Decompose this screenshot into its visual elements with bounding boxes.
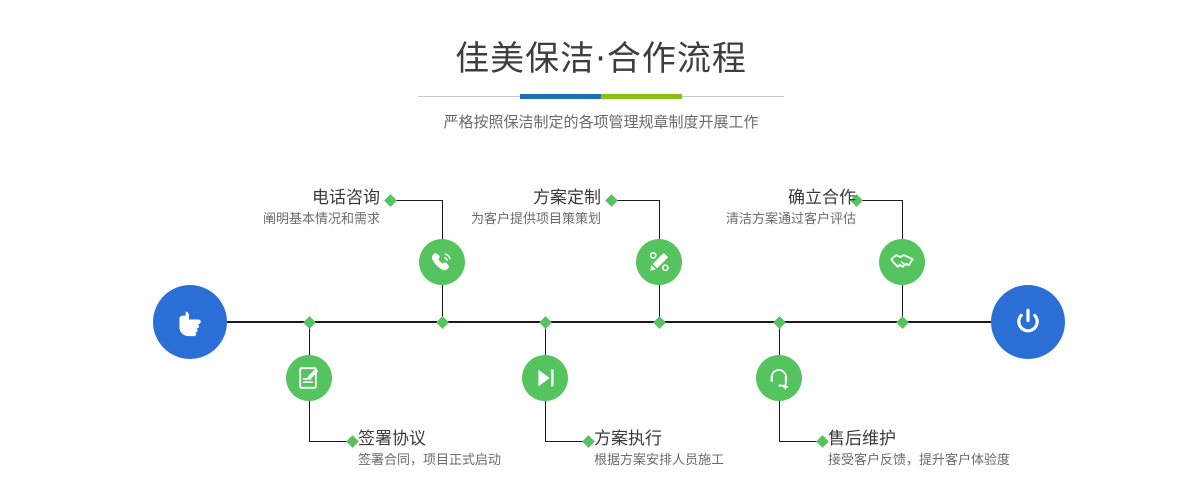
step-title-4: 方案执行 (594, 427, 724, 451)
step-riser-6 (779, 401, 780, 441)
step-icon-contract[interactable] (286, 355, 332, 401)
step-marker-6 (816, 435, 829, 448)
step-marker-2 (346, 435, 359, 448)
timeline-end-badge (991, 285, 1065, 359)
support-agent-icon (765, 364, 793, 392)
step-riser-4 (545, 401, 546, 441)
step-riser-2 (309, 401, 310, 441)
axis-marker-1 (436, 316, 449, 329)
step-title-2: 签署协议 (358, 427, 501, 451)
step-title-3: 方案定制 (471, 186, 601, 210)
step-icon-phone[interactable] (419, 239, 465, 285)
step-title-6: 售后维护 (828, 427, 1010, 451)
step-title-1: 电话咨询 (263, 186, 380, 210)
step-icon-support[interactable] (756, 355, 802, 401)
document-edit-icon (295, 364, 323, 392)
step-desc-4: 根据方案安排人员施工 (594, 451, 724, 471)
step-desc-1: 阐明基本情况和需求 (263, 210, 380, 230)
process-timeline: 电话咨询 阐明基本情况和需求 签署协议 签署合同，项目正式启动 (0, 0, 1202, 502)
step-riser-5 (902, 200, 903, 239)
step-icon-handshake[interactable] (879, 239, 925, 285)
step-riser-3 (659, 200, 660, 239)
step-icon-execute[interactable] (522, 355, 568, 401)
flow-diagram-page: 佳美保洁·合作流程 严格按照保洁制定的各项管理规章制度开展工作 (0, 0, 1202, 502)
step-connector-1 (390, 200, 442, 201)
phone-call-icon (428, 248, 456, 276)
pointing-hand-icon (170, 302, 210, 342)
axis-marker-3 (653, 316, 666, 329)
step-label-6: 售后维护 接受客户反馈，提升客户体验度 (828, 427, 1010, 471)
step-label-2: 签署协议 签署合同，项目正式启动 (358, 427, 501, 471)
step-desc-3: 为客户提供项目策策划 (471, 210, 601, 230)
timeline-start-badge (153, 285, 227, 359)
handshake-icon (888, 248, 916, 276)
step-label-1: 电话咨询 阐明基本情况和需求 (263, 186, 380, 230)
step-desc-6: 接受客户反馈，提升客户体验度 (828, 451, 1010, 471)
axis-marker-2 (303, 316, 316, 329)
step-label-4: 方案执行 根据方案安排人员施工 (594, 427, 724, 471)
step-icon-plan[interactable] (636, 239, 682, 285)
pencil-compass-icon (645, 248, 673, 276)
step-marker-1 (384, 194, 397, 207)
step-desc-5: 清洁方案通过客户评估 (726, 210, 856, 230)
step-label-3: 方案定制 为客户提供项目策策划 (471, 186, 601, 230)
step-title-5: 确立合作 (726, 186, 856, 210)
axis-marker-4 (539, 316, 552, 329)
power-icon (1008, 302, 1048, 342)
play-execute-icon (531, 364, 559, 392)
step-riser-1 (442, 200, 443, 239)
axis-marker-6 (773, 316, 786, 329)
step-marker-3 (605, 194, 618, 207)
step-desc-2: 签署合同，项目正式启动 (358, 451, 501, 471)
step-label-5: 确立合作 清洁方案通过客户评估 (726, 186, 856, 230)
step-marker-4 (582, 435, 595, 448)
axis-marker-5 (896, 316, 909, 329)
